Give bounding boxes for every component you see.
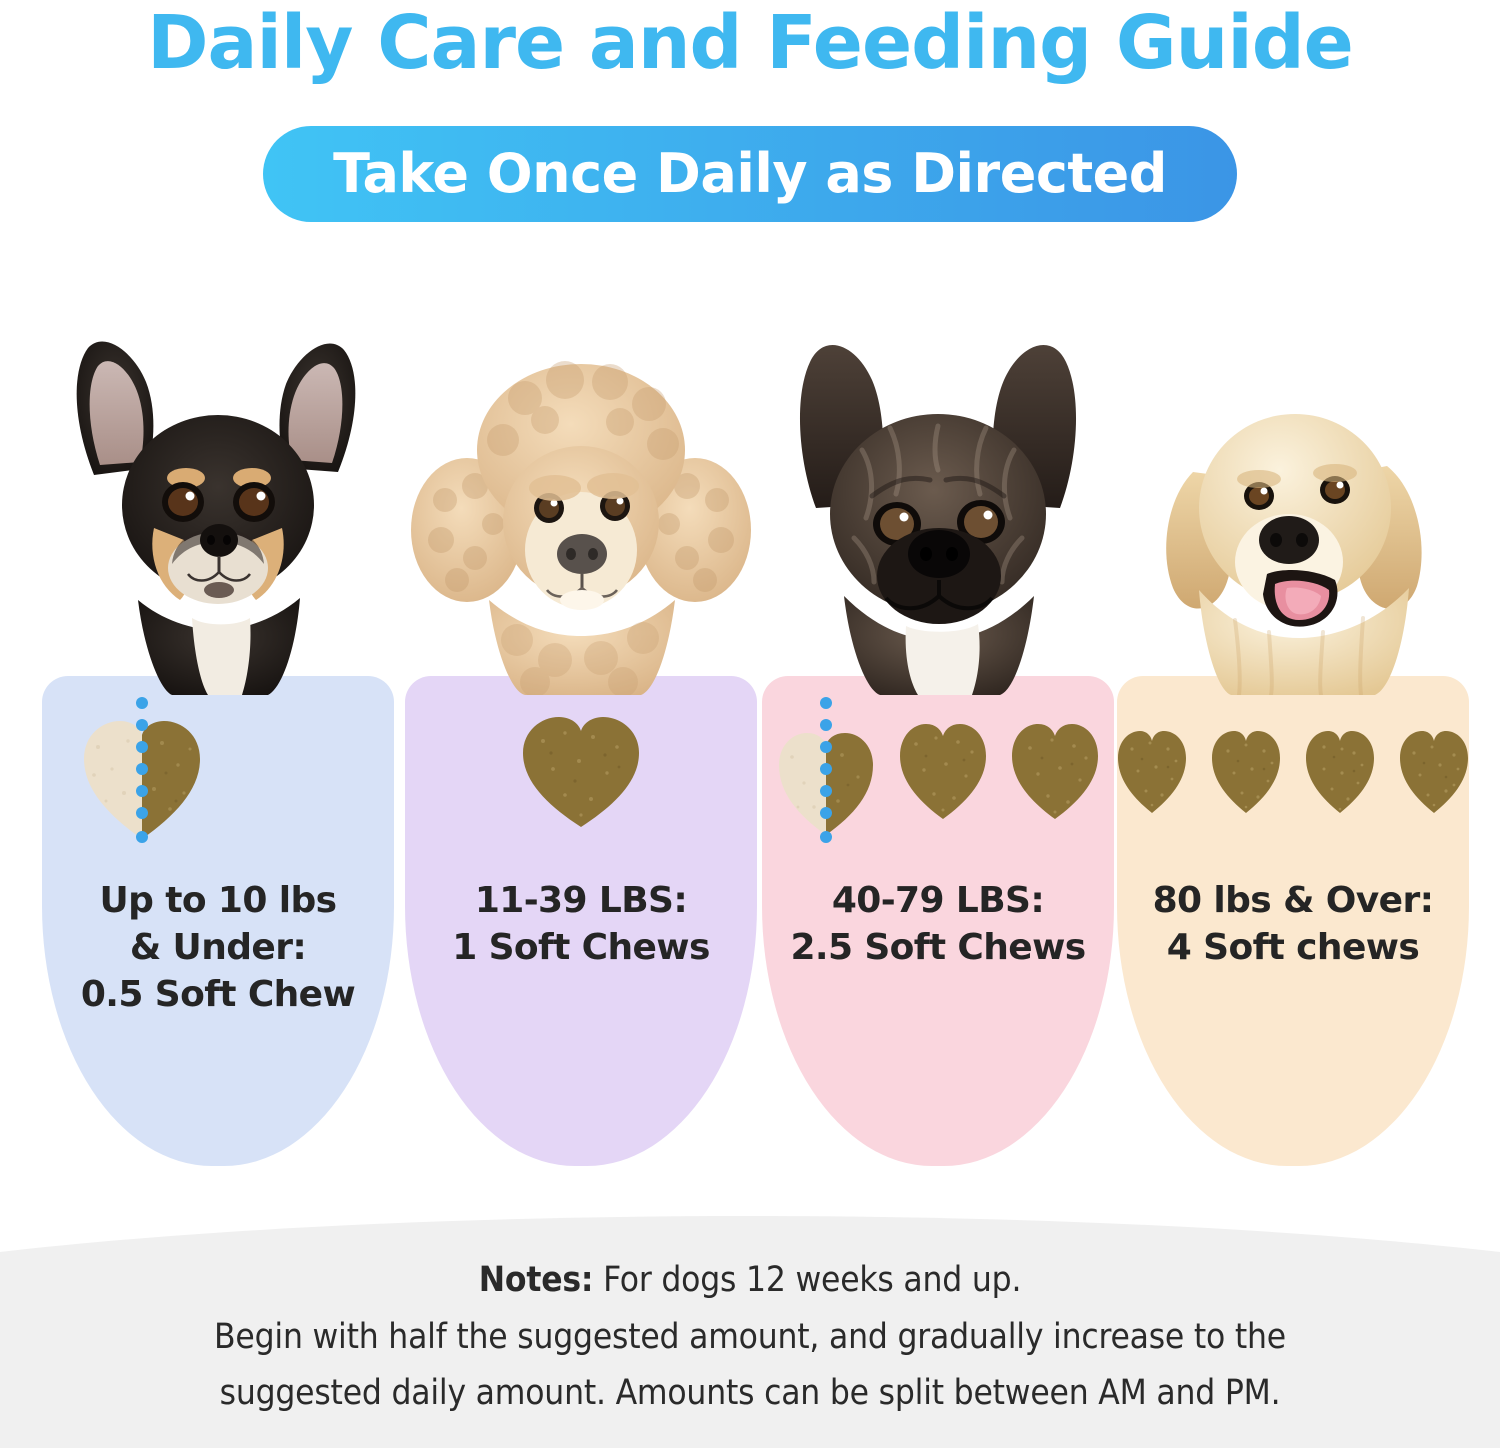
chihuahua-photo (42, 300, 394, 695)
page-title: Daily Care and Feeding Guide (0, 2, 1500, 85)
card-label-line-2: 1 Soft Chews (409, 925, 753, 972)
card-label-line-2: 2.5 Soft Chews (766, 925, 1110, 972)
chew-row (405, 698, 757, 848)
notes-line-3: suggested daily amount. Amounts can be s… (0, 1365, 1500, 1422)
notes-line-1: Notes: For dogs 12 weeks and up. (0, 1252, 1500, 1309)
whole-chew-icon (896, 718, 990, 829)
poodle-photo (405, 300, 757, 695)
notes-line-1-rest: For dogs 12 weeks and up. (593, 1260, 1021, 1300)
card-label: Up to 10 lbs & Under: 0.5 Soft Chew (46, 878, 390, 1018)
dosage-card-40-79lbs[interactable]: 40-79 LBS: 2.5 Soft Chews (762, 300, 1114, 1170)
card-label-line-1: 80 lbs & Over: (1121, 878, 1465, 925)
directions-banner: Take Once Daily as Directed (263, 126, 1237, 222)
chew-row (762, 698, 1114, 848)
half-chew-icon (78, 697, 206, 850)
card-label-line-1: Up to 10 lbs (46, 878, 390, 925)
card-label: 11-39 LBS: 1 Soft Chews (409, 878, 753, 972)
feeding-guide-page: Daily Care and Feeding Guide Take Once D… (0, 0, 1500, 1448)
golden-retriever-photo (1117, 300, 1469, 695)
dosage-card-up-to-10lbs[interactable]: Up to 10 lbs & Under: 0.5 Soft Chew (42, 300, 394, 1170)
card-label-line-2: 4 Soft chews (1121, 925, 1465, 972)
dosage-card-11-39lbs[interactable]: 11-39 LBS: 1 Soft Chews (405, 300, 757, 1170)
whole-chew-icon (517, 711, 645, 836)
whole-chew-icon (1114, 725, 1190, 822)
card-label-line-1: 40-79 LBS: (766, 878, 1110, 925)
whole-chew-icon (1208, 725, 1284, 822)
notes-label: Notes: (479, 1260, 594, 1300)
card-label-line-3: 0.5 Soft Chew (46, 972, 390, 1019)
half-chew-icon (774, 697, 878, 850)
notes-panel: Notes: For dogs 12 weeks and up. Begin w… (0, 1206, 1500, 1448)
banner-wrap: Take Once Daily as Directed (0, 126, 1500, 222)
card-label-line-1: 11-39 LBS: (409, 878, 753, 925)
notes-text: Notes: For dogs 12 weeks and up. Begin w… (0, 1252, 1500, 1422)
chew-row (1117, 698, 1469, 848)
whole-chew-icon (1396, 725, 1472, 822)
french-bulldog-photo (762, 300, 1114, 695)
card-label: 40-79 LBS: 2.5 Soft Chews (766, 878, 1110, 972)
whole-chew-icon (1302, 725, 1378, 822)
chew-row (42, 698, 394, 848)
card-label-line-2: & Under: (46, 925, 390, 972)
header: Daily Care and Feeding Guide Take Once D… (0, 0, 1500, 235)
dosage-cards: Up to 10 lbs & Under: 0.5 Soft Chew (0, 300, 1500, 1180)
notes-line-2: Begin with half the suggested amount, an… (0, 1309, 1500, 1366)
card-label: 80 lbs & Over: 4 Soft chews (1121, 878, 1465, 972)
directions-banner-label: Take Once Daily as Directed (333, 147, 1167, 201)
dosage-card-80lbs-over[interactable]: 80 lbs & Over: 4 Soft chews (1117, 300, 1469, 1170)
whole-chew-icon (1008, 718, 1102, 829)
